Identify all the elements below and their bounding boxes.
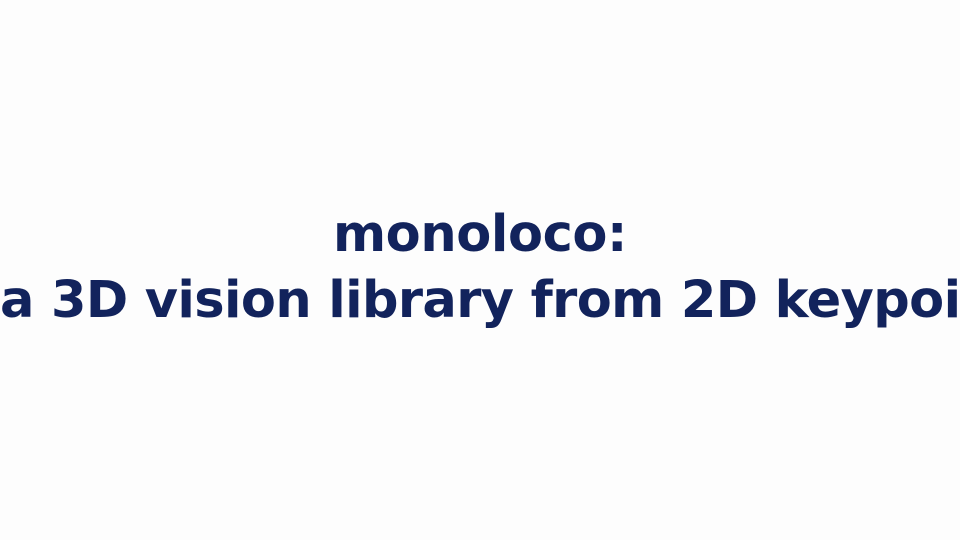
title-line-subtitle: a 3D vision library from 2D keypoints <box>0 268 960 334</box>
title-slide: monoloco: a 3D vision library from 2D ke… <box>0 0 960 540</box>
title-line-primary: monoloco: <box>0 202 960 268</box>
title-block: monoloco: a 3D vision library from 2D ke… <box>0 202 960 334</box>
